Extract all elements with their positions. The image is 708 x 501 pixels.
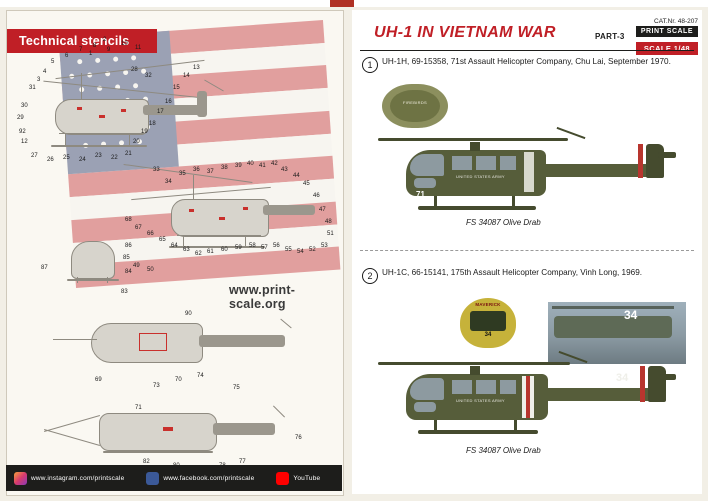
- social-instagram-label: www.instagram.com/printscale: [31, 475, 124, 482]
- profile-number-2: 2: [362, 268, 378, 284]
- social-youtube-label: YouTube: [293, 475, 320, 482]
- profile-number-1: 1: [362, 57, 378, 73]
- unit-patch-2-text: MAVERICK: [460, 302, 516, 307]
- helicopter-diagram-topview: [53, 309, 303, 379]
- section-divider: [360, 250, 694, 251]
- unit-patch-1-text: FIREBIRDS: [382, 100, 448, 105]
- fuselage-text-1: UNITED STATES ARMY: [456, 174, 505, 179]
- fs-note-1: FS 34087 Olive Drab: [466, 218, 541, 227]
- top-crop-bar: [0, 0, 708, 7]
- print-scale-website: www.print-scale.org: [229, 283, 343, 311]
- social-facebook[interactable]: www.facebook.com/printscale: [146, 472, 254, 485]
- sheet-part: PART-3: [595, 32, 625, 41]
- photo-tail-number: 34: [624, 308, 637, 322]
- social-bar: www.instagram.com/printscale www.faceboo…: [6, 465, 342, 491]
- youtube-icon: [276, 472, 289, 485]
- unit-patch-1: FIREBIRDS: [382, 84, 448, 128]
- print-scale-logo: PRINT SCALE: [636, 26, 698, 37]
- social-instagram[interactable]: www.instagram.com/printscale: [14, 472, 124, 485]
- tail-code-1: 71: [416, 190, 425, 199]
- unit-patch-2-sub: 34: [460, 332, 516, 338]
- profile-caption-1: UH-1H, 69-15358, 71st Assault Helicopter…: [382, 56, 682, 68]
- unit-patch-2: MAVERICK 34: [460, 298, 516, 348]
- sheet-title: UH-1 IN VIETNAM WAR: [374, 24, 556, 42]
- fs-note-2: FS 34087 Olive Drab: [466, 446, 541, 455]
- fuselage-text-2: UNITED STATES ARMY: [456, 398, 505, 403]
- right-panel-profiles: UH-1 IN VIETNAM WAR PART-3 CAT.Nr. 48-20…: [352, 10, 702, 494]
- catalogue-number: CAT.Nr. 48-207: [654, 18, 698, 25]
- crop-mark: [330, 0, 354, 7]
- decal-sheet: Technical stencils: [0, 0, 708, 501]
- instagram-icon: [14, 472, 27, 485]
- social-facebook-label: www.facebook.com/printscale: [163, 475, 254, 482]
- profile-caption-2: UH-1C, 66-15141, 175th Assault Helicopte…: [382, 267, 682, 279]
- header-divider: [360, 50, 694, 51]
- social-youtube[interactable]: YouTube: [276, 472, 320, 485]
- helicopter-front-view: [63, 233, 123, 291]
- left-panel-technical-stencils: Technical stencils: [6, 10, 344, 496]
- facebook-icon: [146, 472, 159, 485]
- tail-code-2: 34: [616, 372, 628, 384]
- scale-badge: SCALE 1/48: [636, 42, 698, 55]
